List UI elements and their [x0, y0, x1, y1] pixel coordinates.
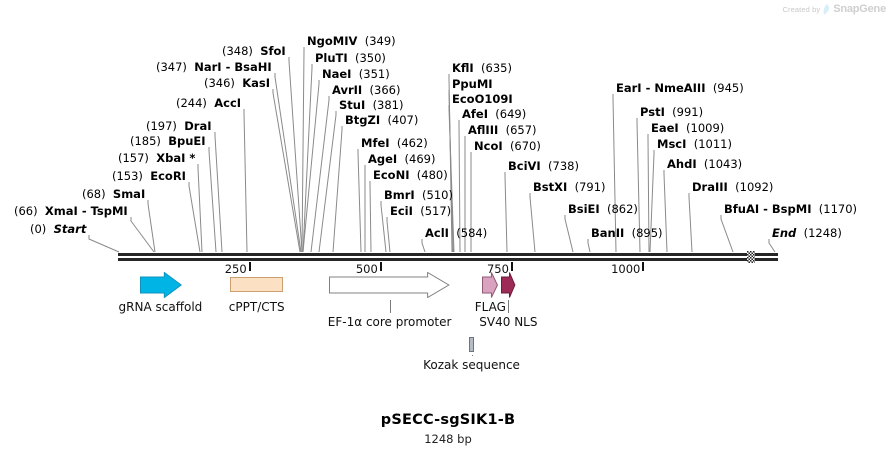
site-name: PluTI: [315, 51, 348, 65]
site-position: (185): [130, 134, 161, 148]
site-position: (350): [355, 51, 386, 65]
site-leader-line: [311, 96, 329, 252]
site-name: AvrII: [332, 83, 362, 97]
site-label[interactable]: (347) NarI - BsaHI: [156, 61, 272, 73]
site-position: (0): [30, 222, 46, 236]
feature-box: [230, 277, 283, 292]
site-label[interactable]: BanII (895): [591, 227, 663, 239]
site-label[interactable]: End (1248): [772, 227, 842, 239]
site-name: AgeI: [368, 152, 397, 166]
site-label[interactable]: AgeI (469): [368, 153, 435, 165]
site-leader-line: [244, 109, 247, 252]
site-name: NcoI: [474, 139, 503, 153]
feature-shape[interactable]: [140, 272, 182, 298]
site-position: (480): [417, 168, 448, 182]
site-name: BstXI: [533, 180, 567, 194]
feature-connector: [472, 355, 473, 356]
site-name: End: [772, 226, 796, 240]
feature-shape[interactable]: [230, 272, 284, 298]
site-name: NarI - BsaHI: [194, 60, 271, 74]
plasmid-length: 1248 bp: [0, 432, 896, 446]
site-leader-line: [358, 149, 361, 252]
feature-connector: [390, 300, 391, 313]
site-label[interactable]: EcoO109I: [452, 93, 513, 105]
site-leader-line: [209, 147, 216, 252]
site-position: (346): [204, 76, 235, 90]
site-label[interactable]: (197) DraI: [146, 120, 212, 132]
site-label[interactable]: (66) XmaI - TspMI: [14, 205, 128, 217]
site-leader-line: [333, 126, 342, 252]
site-label[interactable]: DraIII (1092): [692, 181, 773, 193]
site-name: KflI: [452, 61, 474, 75]
site-label[interactable]: BfuAI - BspMI (1170): [724, 203, 857, 215]
site-label[interactable]: StuI (381): [339, 99, 404, 111]
ruler-tick-label: 1000: [611, 262, 640, 276]
site-name: EcoRI: [150, 169, 186, 183]
site-label[interactable]: (348) SfoI: [222, 45, 286, 57]
site-label[interactable]: (244) AccI: [176, 97, 241, 109]
site-name: BpuEI: [168, 134, 205, 148]
site-name: PpuMI: [452, 77, 493, 91]
site-name: BanII: [591, 226, 624, 240]
site-name: SmaI: [113, 187, 145, 201]
site-name: BtgZI: [345, 113, 380, 127]
site-position: (1009): [686, 121, 724, 135]
ruler-tick: [380, 262, 382, 271]
site-name: BmrI: [384, 188, 415, 202]
site-leader-line: [370, 181, 371, 252]
site-leader-line: [273, 89, 300, 252]
site-label[interactable]: (157) XbaI *: [118, 152, 195, 164]
site-label[interactable]: PluTI (350): [315, 52, 386, 64]
site-position: (469): [405, 152, 436, 166]
feature-shape[interactable]: [329, 272, 450, 298]
site-label[interactable]: (346) KasI: [204, 77, 270, 89]
site-label[interactable]: AhdI (1043): [667, 158, 742, 170]
site-label[interactable]: AfeI (649): [462, 108, 526, 120]
site-position: (657): [506, 123, 537, 137]
site-name: EcoNI: [373, 168, 409, 182]
site-leader-line: [89, 235, 119, 252]
site-name: EarI - NmeAIII: [616, 81, 706, 95]
site-position: (197): [146, 119, 177, 133]
feature-shape[interactable]: [482, 272, 498, 298]
site-name: XbaI *: [156, 151, 195, 165]
site-name: MfeI: [361, 136, 390, 150]
site-name: StuI: [339, 98, 365, 112]
site-position: (348): [222, 44, 253, 58]
site-leader-line: [769, 239, 775, 252]
site-position: (895): [632, 226, 663, 240]
site-position: (153): [112, 169, 143, 183]
ruler-tick: [249, 262, 251, 271]
site-name: BfuAI - BspMI: [724, 202, 811, 216]
site-leader-line: [387, 217, 390, 252]
site-leader-line: [303, 80, 319, 252]
plasmid-map-canvas: Created by SnapGene (0) Start(66) XmaI -…: [0, 0, 896, 451]
site-name: EaeI: [651, 121, 679, 135]
site-leader-line: [302, 47, 304, 252]
site-leader-line: [275, 73, 301, 252]
site-position: (381): [373, 98, 404, 112]
feature-shape[interactable]: [501, 272, 516, 298]
site-name: DraIII: [692, 180, 728, 194]
snapgene-watermark: Created by SnapGene: [783, 3, 887, 15]
site-position: (1092): [735, 180, 773, 194]
sequence-backbone-lower: [118, 258, 778, 261]
site-name: MscI: [657, 137, 686, 151]
site-position: (945): [713, 81, 744, 95]
site-position: (407): [387, 113, 418, 127]
site-leader-line: [289, 57, 302, 252]
site-leader-line: [565, 215, 573, 252]
site-name: AfeI: [462, 107, 488, 121]
site-position: (510): [422, 188, 453, 202]
site-name: BsiEI: [568, 202, 600, 216]
site-name: BciVI: [508, 159, 541, 173]
site-position: (1170): [819, 202, 857, 216]
site-name: AclI: [425, 226, 449, 240]
site-name: XmaI - TspMI: [45, 204, 128, 218]
site-label[interactable]: PpuMI: [452, 78, 493, 90]
site-position: (66): [14, 204, 38, 218]
snapgene-logo-icon: [823, 4, 830, 15]
site-position: (862): [607, 202, 638, 216]
site-label[interactable]: NcoI (670): [474, 140, 541, 152]
site-label[interactable]: NaeI (351): [322, 68, 390, 80]
site-label[interactable]: BmrI (510): [384, 189, 453, 201]
site-position: (635): [481, 61, 512, 75]
feature-shape[interactable]: [469, 337, 475, 353]
site-name: KasI: [242, 76, 270, 90]
site-name: SfoI: [260, 44, 285, 58]
site-label[interactable]: EciI (517): [390, 205, 451, 217]
site-name: PstI: [640, 105, 665, 119]
site-position: (670): [510, 139, 541, 153]
site-label[interactable]: AclI (584): [425, 227, 487, 239]
site-position: (351): [359, 67, 390, 81]
site-name: DraI: [184, 119, 211, 133]
site-position: (462): [397, 136, 428, 150]
site-name: AccI: [214, 96, 241, 110]
site-position: (738): [548, 159, 579, 173]
site-leader-line: [422, 239, 425, 252]
site-leader-line: [721, 215, 733, 252]
feature-label[interactable]: EF-1α core promoter: [328, 315, 452, 329]
site-position: (649): [495, 107, 526, 121]
site-leader-line: [148, 200, 155, 252]
feature-box: [469, 337, 474, 352]
site-label[interactable]: AvrII (366): [332, 84, 400, 96]
page-title: pSECC-sgSIK1-B: [0, 412, 896, 428]
ruler-tick: [511, 262, 513, 271]
sequence-backbone-upper: [118, 253, 778, 256]
site-position: (157): [118, 151, 149, 165]
site-position: (517): [420, 204, 451, 218]
site-leader-line: [505, 172, 507, 252]
site-label[interactable]: MscI (1011): [657, 138, 732, 150]
site-name: AhdI: [667, 157, 697, 171]
site-name: EcoO109I: [452, 92, 513, 106]
site-position: (1011): [694, 137, 732, 151]
site-label[interactable]: PstI (991): [640, 106, 703, 118]
site-leader-line: [381, 201, 386, 252]
site-position: (991): [672, 105, 703, 119]
feature-label[interactable]: gRNA scaffold: [119, 300, 203, 314]
site-position: (1248): [804, 226, 842, 240]
ruler-tick: [642, 262, 644, 271]
site-label[interactable]: NgoMIV (349): [307, 35, 396, 47]
site-leader-line: [215, 132, 222, 252]
site-position: (244): [176, 96, 207, 110]
site-leader-line: [303, 64, 312, 252]
site-name: Start: [54, 222, 87, 236]
site-name: AflIII: [468, 123, 498, 137]
site-leader-line: [131, 217, 154, 252]
site-label[interactable]: EcoNI (480): [373, 169, 448, 181]
site-name: NaeI: [322, 67, 351, 81]
site-position: (366): [370, 83, 401, 97]
site-label[interactable]: (68) SmaI: [82, 188, 145, 200]
site-name: NgoMIV: [307, 34, 357, 48]
watermark-brand: SnapGene: [833, 3, 886, 15]
site-label[interactable]: BsiEI (862): [568, 203, 638, 215]
site-label[interactable]: EaeI (1009): [651, 122, 724, 134]
site-position: (68): [82, 187, 106, 201]
feature-label[interactable]: Kozak sequence: [423, 358, 520, 372]
watermark-created-label: Created by: [783, 5, 821, 14]
site-leader-line: [530, 193, 535, 252]
site-leader-line: [198, 164, 202, 252]
feature-label[interactable]: cPPT/CTS: [229, 300, 285, 314]
site-name: EciI: [390, 204, 413, 218]
site-label[interactable]: EarI - NmeAIII (945): [616, 82, 744, 94]
site-leader-line: [588, 239, 590, 252]
site-label[interactable]: (153) EcoRI: [112, 170, 186, 182]
site-label[interactable]: BtgZI (407): [345, 114, 418, 126]
site-label[interactable]: (0) Start: [30, 223, 86, 235]
site-label[interactable]: AflIII (657): [468, 124, 537, 136]
site-position: (584): [456, 226, 487, 240]
site-position: (1043): [704, 157, 742, 171]
feature-label[interactable]: FLAG: [475, 300, 506, 314]
site-position: (791): [575, 180, 606, 194]
site-leader-line: [189, 182, 200, 252]
site-leader-line: [319, 111, 336, 252]
sequence-break-marker: [747, 251, 755, 263]
site-label[interactable]: MfeI (462): [361, 137, 428, 149]
site-label[interactable]: BstXI (791): [533, 181, 606, 193]
site-leader-line: [664, 170, 667, 252]
feature-connector: [508, 300, 509, 313]
site-leader-line: [689, 193, 692, 252]
site-position: (347): [156, 60, 187, 74]
feature-label[interactable]: SV40 NLS: [479, 315, 537, 329]
site-label[interactable]: KflI (635): [452, 62, 512, 74]
site-label[interactable]: (185) BpuEI: [130, 135, 206, 147]
site-label[interactable]: BciVI (738): [508, 160, 579, 172]
site-position: (349): [365, 34, 396, 48]
